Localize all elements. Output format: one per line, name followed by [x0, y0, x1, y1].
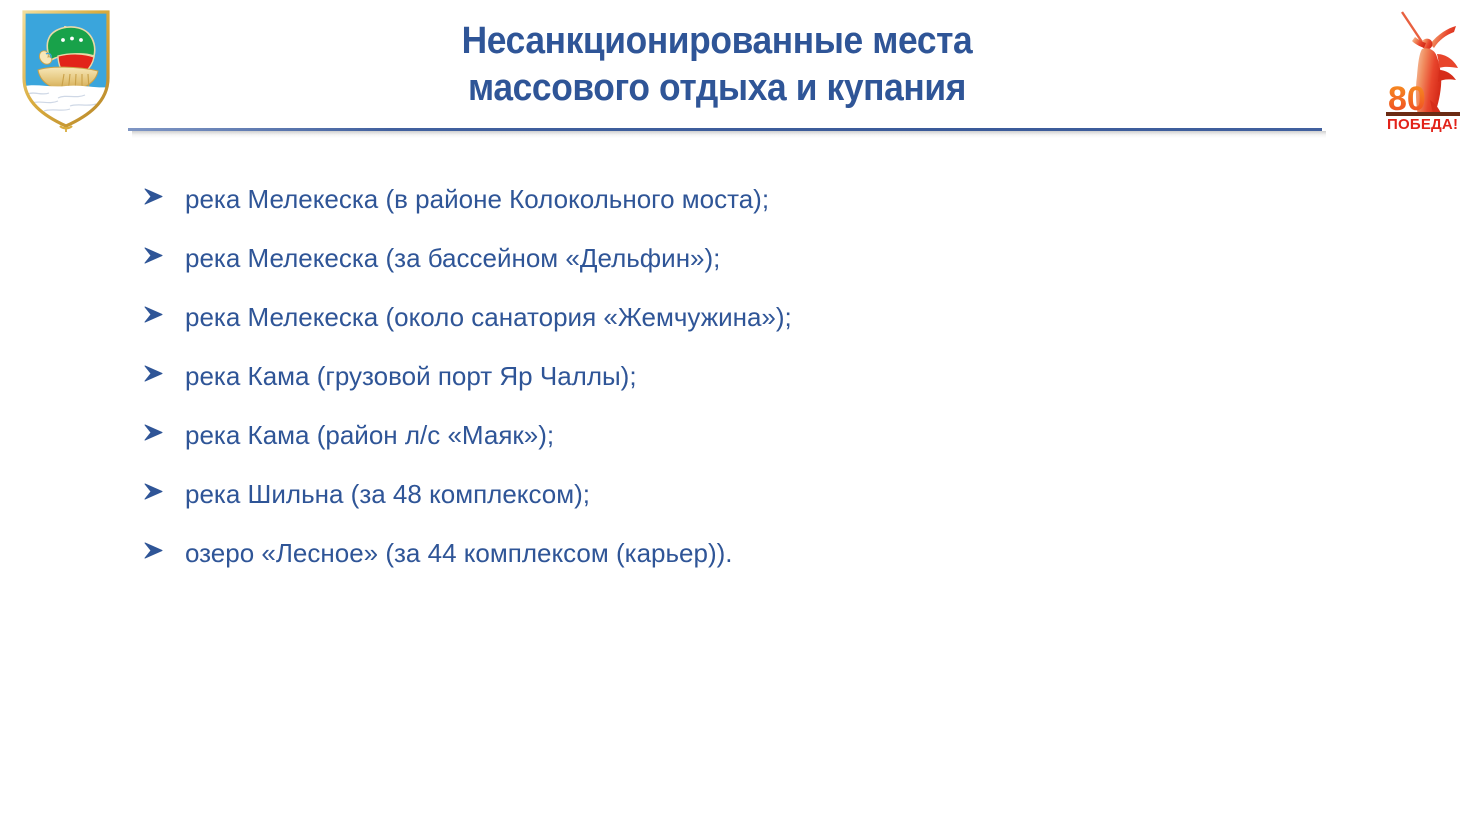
- arrowhead-bullet-icon: [143, 302, 185, 324]
- arrowhead-bullet-icon: [143, 243, 185, 265]
- title-line-2: массового отдыха и купания: [404, 65, 1031, 112]
- title-line-1: Несанкционированные места: [404, 18, 1031, 65]
- list-item: озеро «Лесное» (за 44 комплексом (карьер…: [143, 538, 1293, 597]
- presentation-slide: 80 ПОБЕДА! Несанкционированные места мас…: [0, 0, 1470, 824]
- bullet-list: река Мелекеска (в районе Колокольного мо…: [143, 184, 1293, 597]
- victory-80-logo-icon: 80 ПОБЕДА!: [1382, 4, 1464, 132]
- coat-of-arms-icon: [18, 8, 114, 132]
- arrowhead-bullet-icon: [143, 479, 185, 501]
- title-divider: [128, 128, 1322, 138]
- arrowhead-bullet-icon: [143, 361, 185, 383]
- list-item: река Шильна (за 48 комплексом);: [143, 479, 1293, 538]
- arrowhead-bullet-icon: [143, 538, 185, 560]
- divider-shadow: [132, 131, 1326, 138]
- list-item-label: река Шильна (за 48 комплексом);: [185, 479, 1293, 509]
- arrowhead-bullet-icon: [143, 184, 185, 206]
- list-item-label: река Мелекеска (в районе Колокольного мо…: [185, 184, 1293, 214]
- page-title: Несанкционированные места массового отды…: [380, 18, 1054, 112]
- divider-line: [128, 128, 1322, 131]
- list-item: река Мелекеска (в районе Колокольного мо…: [143, 184, 1293, 243]
- list-item: река Кама (грузовой порт Яр Чаллы);: [143, 361, 1293, 420]
- list-item-label: река Мелекеска (за бассейном «Дельфин»);: [185, 243, 1293, 273]
- list-item: река Кама (район л/с «Маяк»);: [143, 420, 1293, 479]
- list-item-label: река Кама (грузовой порт Яр Чаллы);: [185, 361, 1293, 391]
- list-item-label: река Кама (район л/с «Маяк»);: [185, 420, 1293, 450]
- victory-caption: ПОБЕДА!: [1387, 116, 1458, 132]
- list-item-label: озеро «Лесное» (за 44 комплексом (карьер…: [185, 538, 1293, 568]
- list-item: река Мелекеска (за бассейном «Дельфин»);: [143, 243, 1293, 302]
- list-item: река Мелекеска (около санатория «Жемчужи…: [143, 302, 1293, 361]
- arrowhead-bullet-icon: [143, 420, 185, 442]
- list-item-label: река Мелекеска (около санатория «Жемчужи…: [185, 302, 1293, 332]
